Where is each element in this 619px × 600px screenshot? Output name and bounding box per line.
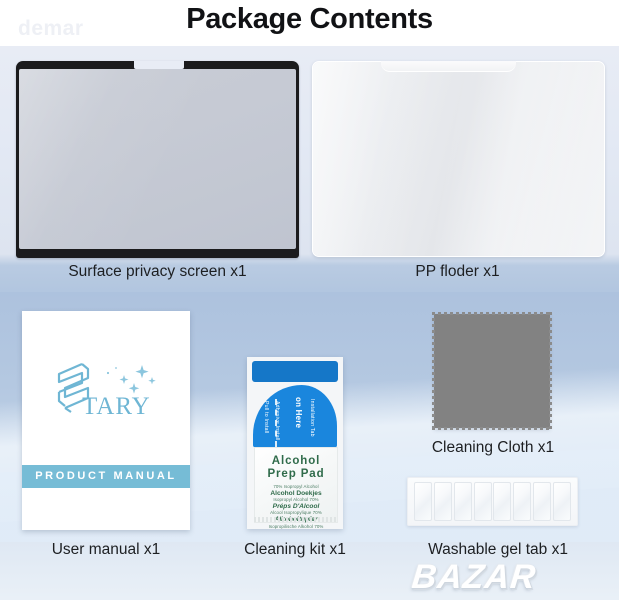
label-washable-gel-tab: Washable gel tab x1 xyxy=(398,540,598,560)
manual-title-band: PRODUCT MANUAL xyxy=(22,465,190,488)
microfiber-cloth-icon xyxy=(434,314,550,428)
gel-tab xyxy=(553,482,571,521)
header: Package Contents demar xyxy=(0,0,619,46)
alcohol-pad-icon: Pull to Install Adhesive Install on Here… xyxy=(247,357,343,529)
sachet-serrated-edge xyxy=(254,517,336,522)
label-cleaning-kit: Cleaning kit x1 xyxy=(215,540,375,560)
sachet-line-de-sub: Isopropilische Alkohol 70% xyxy=(255,524,337,529)
folder-sheen xyxy=(313,62,604,256)
kit-tab-text-4: Installation Tab xyxy=(309,399,315,437)
sachet-title-line-1: Alcohol xyxy=(255,455,337,468)
demar-watermark: demar xyxy=(18,17,84,41)
kit-tab-text-1: Pull to Install xyxy=(263,401,269,433)
gel-tab xyxy=(474,482,492,521)
sachet-title-line-2: Prep Pad xyxy=(255,468,337,481)
package-contents-page: Package Contents demar Surface privacy s… xyxy=(0,0,619,600)
folder-sleeve-icon xyxy=(312,61,605,257)
laptop-screen-icon xyxy=(16,61,299,258)
kit-tab-text-2: Adhesive Install xyxy=(274,401,280,441)
cloth-serrated-edge xyxy=(432,312,552,430)
kit-header-bar xyxy=(252,361,338,382)
gel-tab xyxy=(454,482,472,521)
sachet-line-fr: Préps D'Alcool xyxy=(255,503,337,511)
manual-title-text: PRODUCT MANUAL xyxy=(22,465,190,488)
kit-tab-text-3: on Here xyxy=(294,397,303,428)
gel-tab xyxy=(414,482,432,521)
manual-logo: TARY xyxy=(22,357,190,437)
label-pp-folder: PP floder x1 xyxy=(312,262,603,282)
bazar-watermark: BAZAR xyxy=(410,558,538,597)
folder-notch xyxy=(381,61,516,72)
sachet-line-nl: Alcohol Doekjes xyxy=(255,490,337,498)
label-user-manual: User manual x1 xyxy=(10,540,202,560)
gel-tab xyxy=(493,482,511,521)
page-title: Package Contents xyxy=(0,0,619,36)
gel-tab xyxy=(533,482,551,521)
gel-tab-tray-icon xyxy=(407,477,578,526)
gel-tab xyxy=(434,482,452,521)
brand-name: TARY xyxy=(82,393,190,421)
label-surface-privacy-screen: Surface privacy screen x1 xyxy=(16,262,299,282)
label-cleaning-cloth: Cleaning Cloth x1 xyxy=(408,438,578,458)
screen-surface xyxy=(19,69,296,249)
sparkles-icon xyxy=(100,363,162,397)
alcohol-prep-pad-sachet: Alcohol Prep Pad 70% Isopropyl Alcohol A… xyxy=(254,447,338,523)
screen-notch xyxy=(134,61,184,69)
manual-booklet-icon: TARY PRODUCT MANUAL xyxy=(22,311,190,530)
gel-tab xyxy=(513,482,531,521)
